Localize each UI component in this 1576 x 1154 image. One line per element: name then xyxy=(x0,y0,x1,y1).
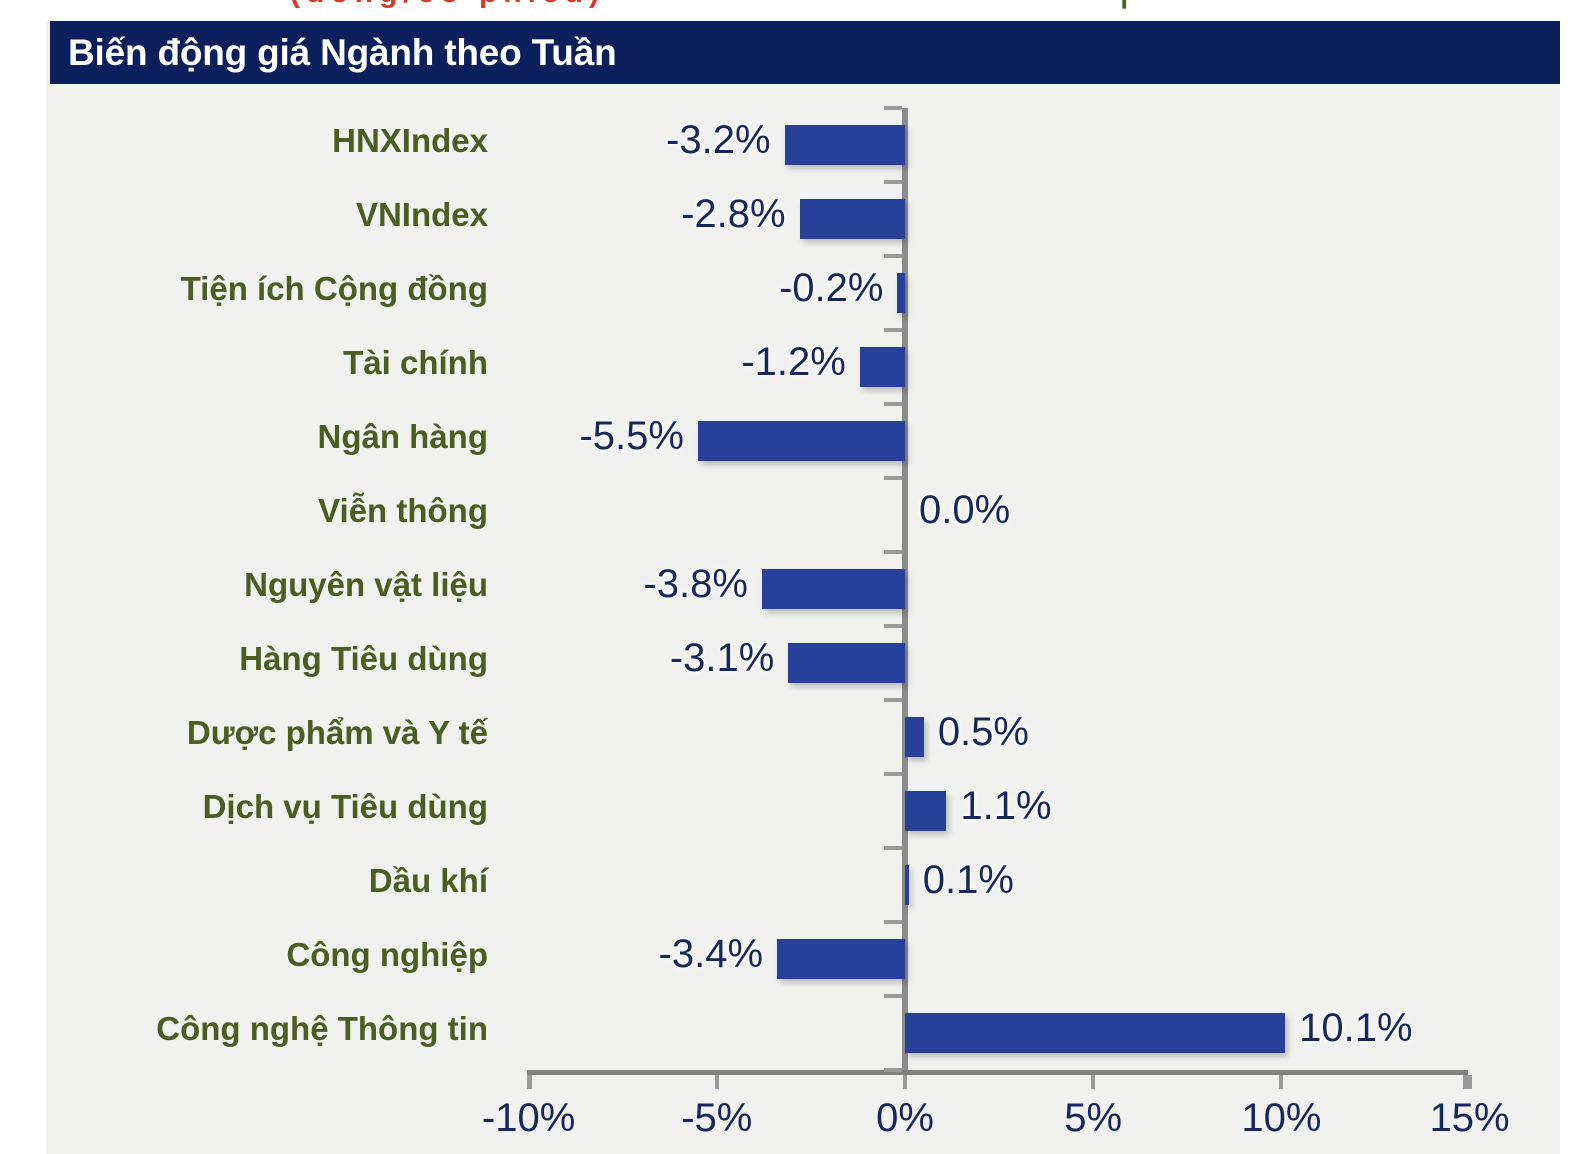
category-label: Công nghệ Thông tin xyxy=(156,1010,488,1048)
bar-value-label: -3.1% xyxy=(670,636,775,681)
bar-row: Tài chính-1.2% xyxy=(46,330,1560,404)
category-tick xyxy=(884,698,902,702)
bar-value-label: -5.5% xyxy=(579,414,684,459)
x-axis-label: 15% xyxy=(1430,1096,1510,1141)
category-label: VNIndex xyxy=(356,196,488,234)
bar-value-label: -1.2% xyxy=(741,340,846,385)
chart-card: Biến động giá Ngành theo Tuần HNXIndex-3… xyxy=(46,21,1560,1154)
bar[interactable] xyxy=(905,791,946,831)
bar-row: Dịch vụ Tiêu dùng1.1% xyxy=(46,774,1560,848)
category-tick xyxy=(884,846,902,850)
bar-row: Công nghệ Thông tin10.1% xyxy=(46,996,1560,1070)
category-tick xyxy=(884,1068,902,1072)
category-label: Công nghiệp xyxy=(286,936,488,974)
category-label: HNXIndex xyxy=(332,122,488,160)
bar[interactable] xyxy=(905,1013,1285,1053)
category-label: Tài chính xyxy=(343,344,488,382)
category-tick xyxy=(884,994,902,998)
bar[interactable] xyxy=(905,865,909,905)
bar-value-label: 1.1% xyxy=(960,784,1051,829)
bar-row: VNIndex-2.8% xyxy=(46,182,1560,256)
x-axis-tick xyxy=(903,1075,907,1089)
x-axis-label: 5% xyxy=(1064,1096,1122,1141)
bar-row: Nguyên vật liệu-3.8% xyxy=(46,552,1560,626)
category-tick xyxy=(884,106,902,110)
bar[interactable] xyxy=(905,717,924,757)
category-tick xyxy=(884,476,902,480)
x-axis-tick xyxy=(1468,1075,1472,1089)
bar-value-label: -3.2% xyxy=(666,118,771,163)
bar[interactable] xyxy=(800,199,905,239)
category-label: Dầu khí xyxy=(369,862,488,900)
bar-row: Ngân hàng-5.5% xyxy=(46,404,1560,478)
x-axis-label: -10% xyxy=(482,1096,575,1141)
bar-row: Công nghiệp-3.4% xyxy=(46,922,1560,996)
x-axis-tick xyxy=(1091,1075,1095,1089)
category-label: Hàng Tiêu dùng xyxy=(239,640,488,678)
category-label: Nguyên vật liệu xyxy=(244,566,488,604)
bar[interactable] xyxy=(785,125,905,165)
category-tick xyxy=(884,550,902,554)
category-tick xyxy=(884,624,902,628)
x-axis-line xyxy=(527,1070,1468,1075)
chart-plot-area: HNXIndex-3.2%VNIndex-2.8%Tiện ích Cộng đ… xyxy=(46,84,1560,1154)
category-tick xyxy=(884,402,902,406)
bar-row: Dầu khí0.1% xyxy=(46,848,1560,922)
category-tick xyxy=(884,328,902,332)
bar[interactable] xyxy=(897,273,905,313)
bar-row: Hàng Tiêu dùng-3.1% xyxy=(46,626,1560,700)
bar-value-label: 0.1% xyxy=(923,858,1014,903)
x-axis-tick xyxy=(1279,1075,1283,1089)
bar[interactable] xyxy=(762,569,905,609)
clipped-right-fragment: | xyxy=(1120,0,1128,10)
category-tick xyxy=(884,254,902,258)
bar[interactable] xyxy=(860,347,905,387)
bar-value-label: 10.1% xyxy=(1299,1006,1412,1051)
bar-value-label: 0.5% xyxy=(938,710,1029,755)
x-axis-label: 0% xyxy=(876,1096,934,1141)
category-label: Viễn thông xyxy=(318,492,488,530)
bar-value-label: -0.2% xyxy=(779,266,884,311)
x-axis-tick xyxy=(527,1075,531,1089)
x-axis-tick xyxy=(715,1075,719,1089)
x-axis-label: 10% xyxy=(1241,1096,1321,1141)
bar-value-label: -3.8% xyxy=(643,562,748,607)
bar-row: Dược phẩm và Y tế0.5% xyxy=(46,700,1560,774)
clipped-left-fragment: (đồng/cổ phiếu) xyxy=(290,0,605,10)
category-label: Dịch vụ Tiêu dùng xyxy=(203,788,488,826)
category-tick xyxy=(884,180,902,184)
bar-row: Viễn thông0.0% xyxy=(46,478,1560,552)
category-label: Ngân hàng xyxy=(318,418,489,456)
x-axis-label: -5% xyxy=(681,1096,752,1141)
bar-value-label: -3.4% xyxy=(659,932,764,977)
category-tick xyxy=(884,920,902,924)
category-label: Tiện ích Cộng đồng xyxy=(181,270,488,308)
category-label: Dược phẩm và Y tế xyxy=(187,714,488,752)
page-title: Biến động giá Ngành theo Tuần xyxy=(68,32,616,74)
bar[interactable] xyxy=(788,643,905,683)
bar-row: HNXIndex-3.2% xyxy=(46,108,1560,182)
category-tick xyxy=(884,772,902,776)
bar-row: Tiện ích Cộng đồng-0.2% xyxy=(46,256,1560,330)
bar[interactable] xyxy=(777,939,905,979)
clipped-top-text: (đồng/cổ phiếu) | xyxy=(0,0,1576,14)
chart-title-bar: Biến động giá Ngành theo Tuần xyxy=(50,21,1560,84)
bar-value-label: -2.8% xyxy=(681,192,786,237)
bar[interactable] xyxy=(698,421,905,461)
bar-value-label: 0.0% xyxy=(919,488,1010,533)
